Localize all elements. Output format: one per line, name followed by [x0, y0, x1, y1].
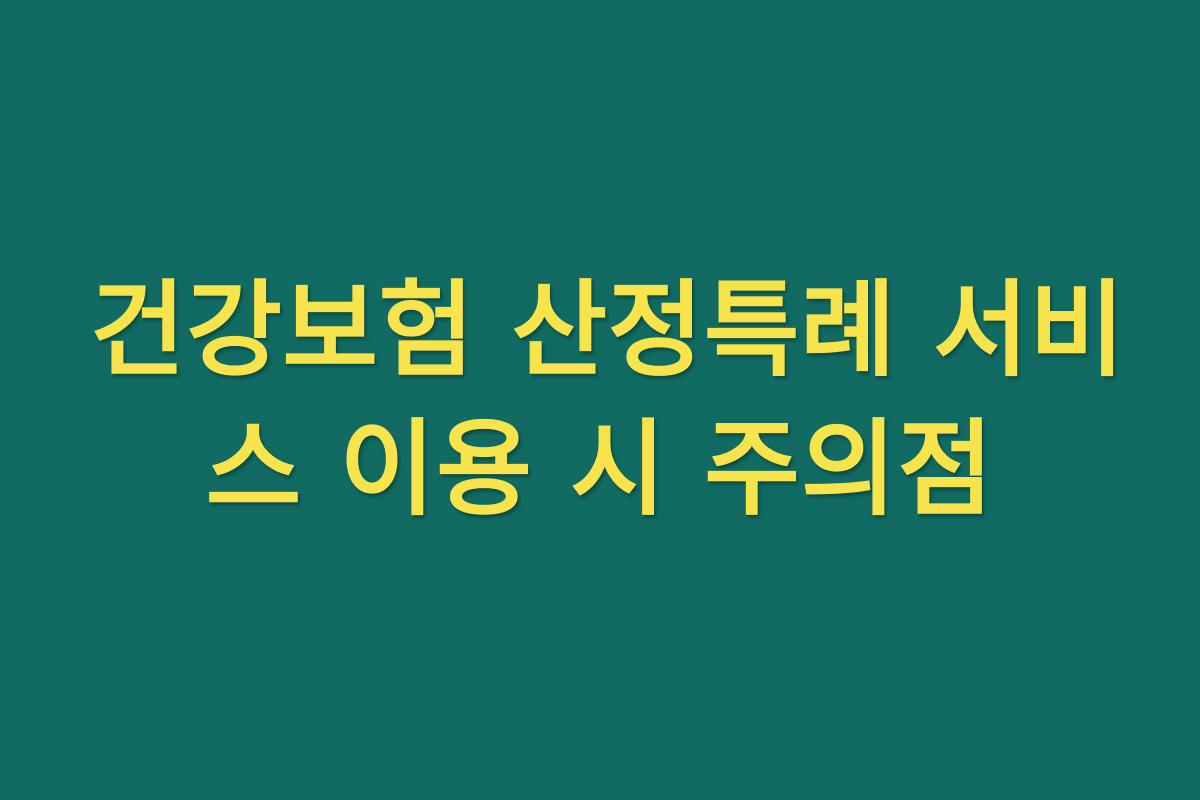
- banner-canvas: 건강보험 산정특례 서비 스 이용 시 주의점: [0, 0, 1200, 800]
- headline-line-1: 건강보험 산정특례 서비: [90, 261, 1110, 400]
- headline-block: 건강보험 산정특례 서비 스 이용 시 주의점: [90, 261, 1110, 540]
- headline-line-2: 스 이용 시 주의점: [90, 400, 1110, 539]
